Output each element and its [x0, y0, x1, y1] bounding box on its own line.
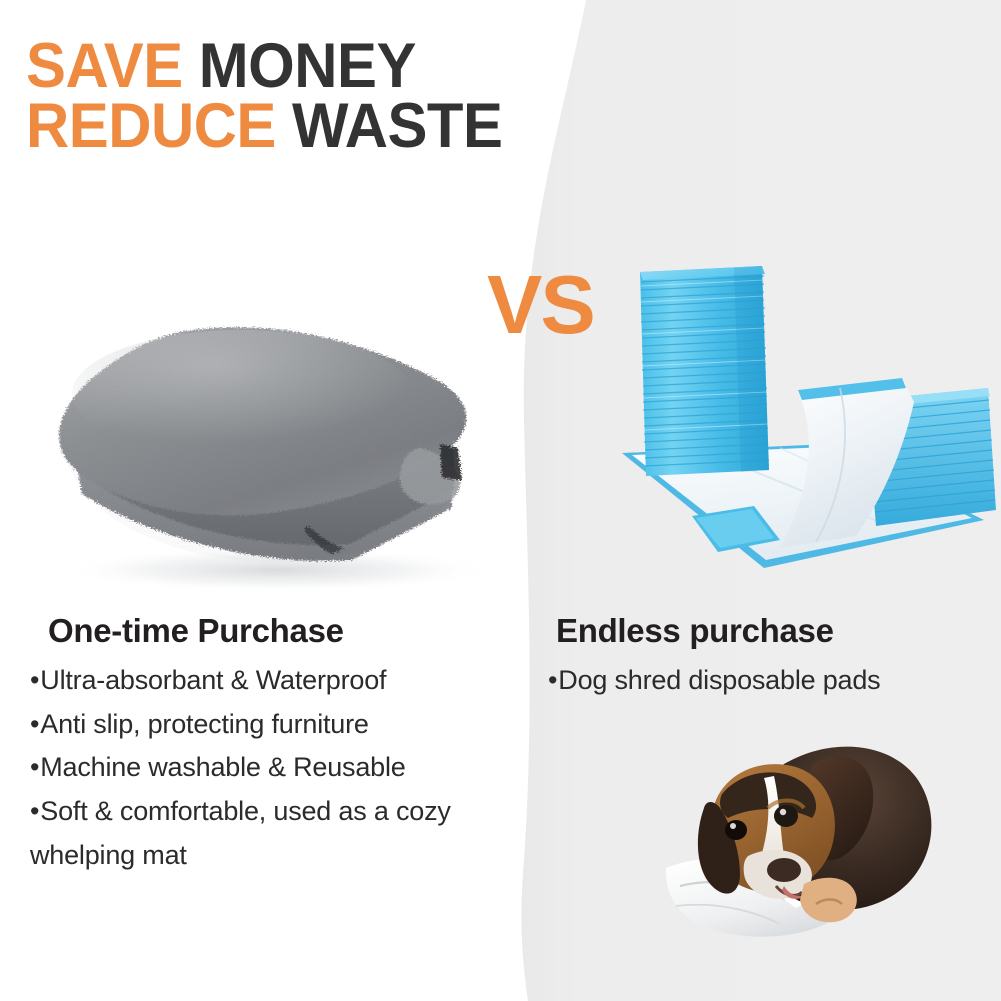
list-item-text: Soft & comfortable, used as a cozy [40, 796, 450, 826]
puppy-image [656, 718, 986, 980]
list-item-text: Anti slip, protecting furniture [40, 709, 368, 739]
infographic-canvas: SAVEMONEY REDUCEWASTE VS [0, 0, 1001, 1001]
left-comparison-column: One-time Purchase •Ultra-absorbant & Wat… [30, 612, 530, 878]
versus-label: VS [487, 263, 594, 346]
list-item-continuation: whelping mat [30, 834, 530, 878]
disposable-pads-image [584, 248, 1001, 583]
right-comparison-column: Endless purchase •Dog shred disposable p… [548, 612, 988, 703]
bullet-dot: • [30, 709, 39, 739]
bullet-dot: • [30, 665, 39, 695]
bullet-dot: • [30, 796, 39, 826]
right-column-title: Endless purchase [556, 612, 988, 650]
list-item: •Machine washable & Reusable [30, 746, 530, 790]
list-item: •Ultra-absorbant & Waterproof [30, 659, 530, 703]
list-item: •Dog shred disposable pads [548, 659, 988, 703]
reusable-mat-image [22, 298, 522, 598]
left-bullet-list: •Ultra-absorbant & Waterproof •Anti slip… [30, 659, 530, 878]
list-item-text: Ultra-absorbant & Waterproof [40, 665, 386, 695]
headline-reduce: REDUCE [26, 91, 276, 161]
pad-stack-tall [640, 266, 769, 476]
list-item: •Anti slip, protecting furniture [30, 703, 530, 747]
bullet-dot: • [548, 665, 557, 695]
puppy-nose [767, 858, 801, 882]
left-column-title: One-time Purchase [48, 612, 530, 650]
headline-waste: WASTE [292, 91, 502, 161]
headline-block: SAVEMONEY REDUCEWASTE [26, 36, 528, 157]
list-item-text: Machine washable & Reusable [40, 752, 405, 782]
headline-line-2: REDUCEWASTE [26, 96, 502, 156]
puppy-eye-right [774, 805, 798, 827]
headline-line-1: SAVEMONEY [26, 36, 502, 96]
right-bullet-list: •Dog shred disposable pads [548, 659, 988, 703]
puppy-eye-left [725, 820, 747, 840]
list-item-text: Dog shred disposable pads [558, 665, 880, 695]
bullet-dot: • [30, 752, 39, 782]
list-item: •Soft & comfortable, used as a cozy [30, 790, 530, 834]
